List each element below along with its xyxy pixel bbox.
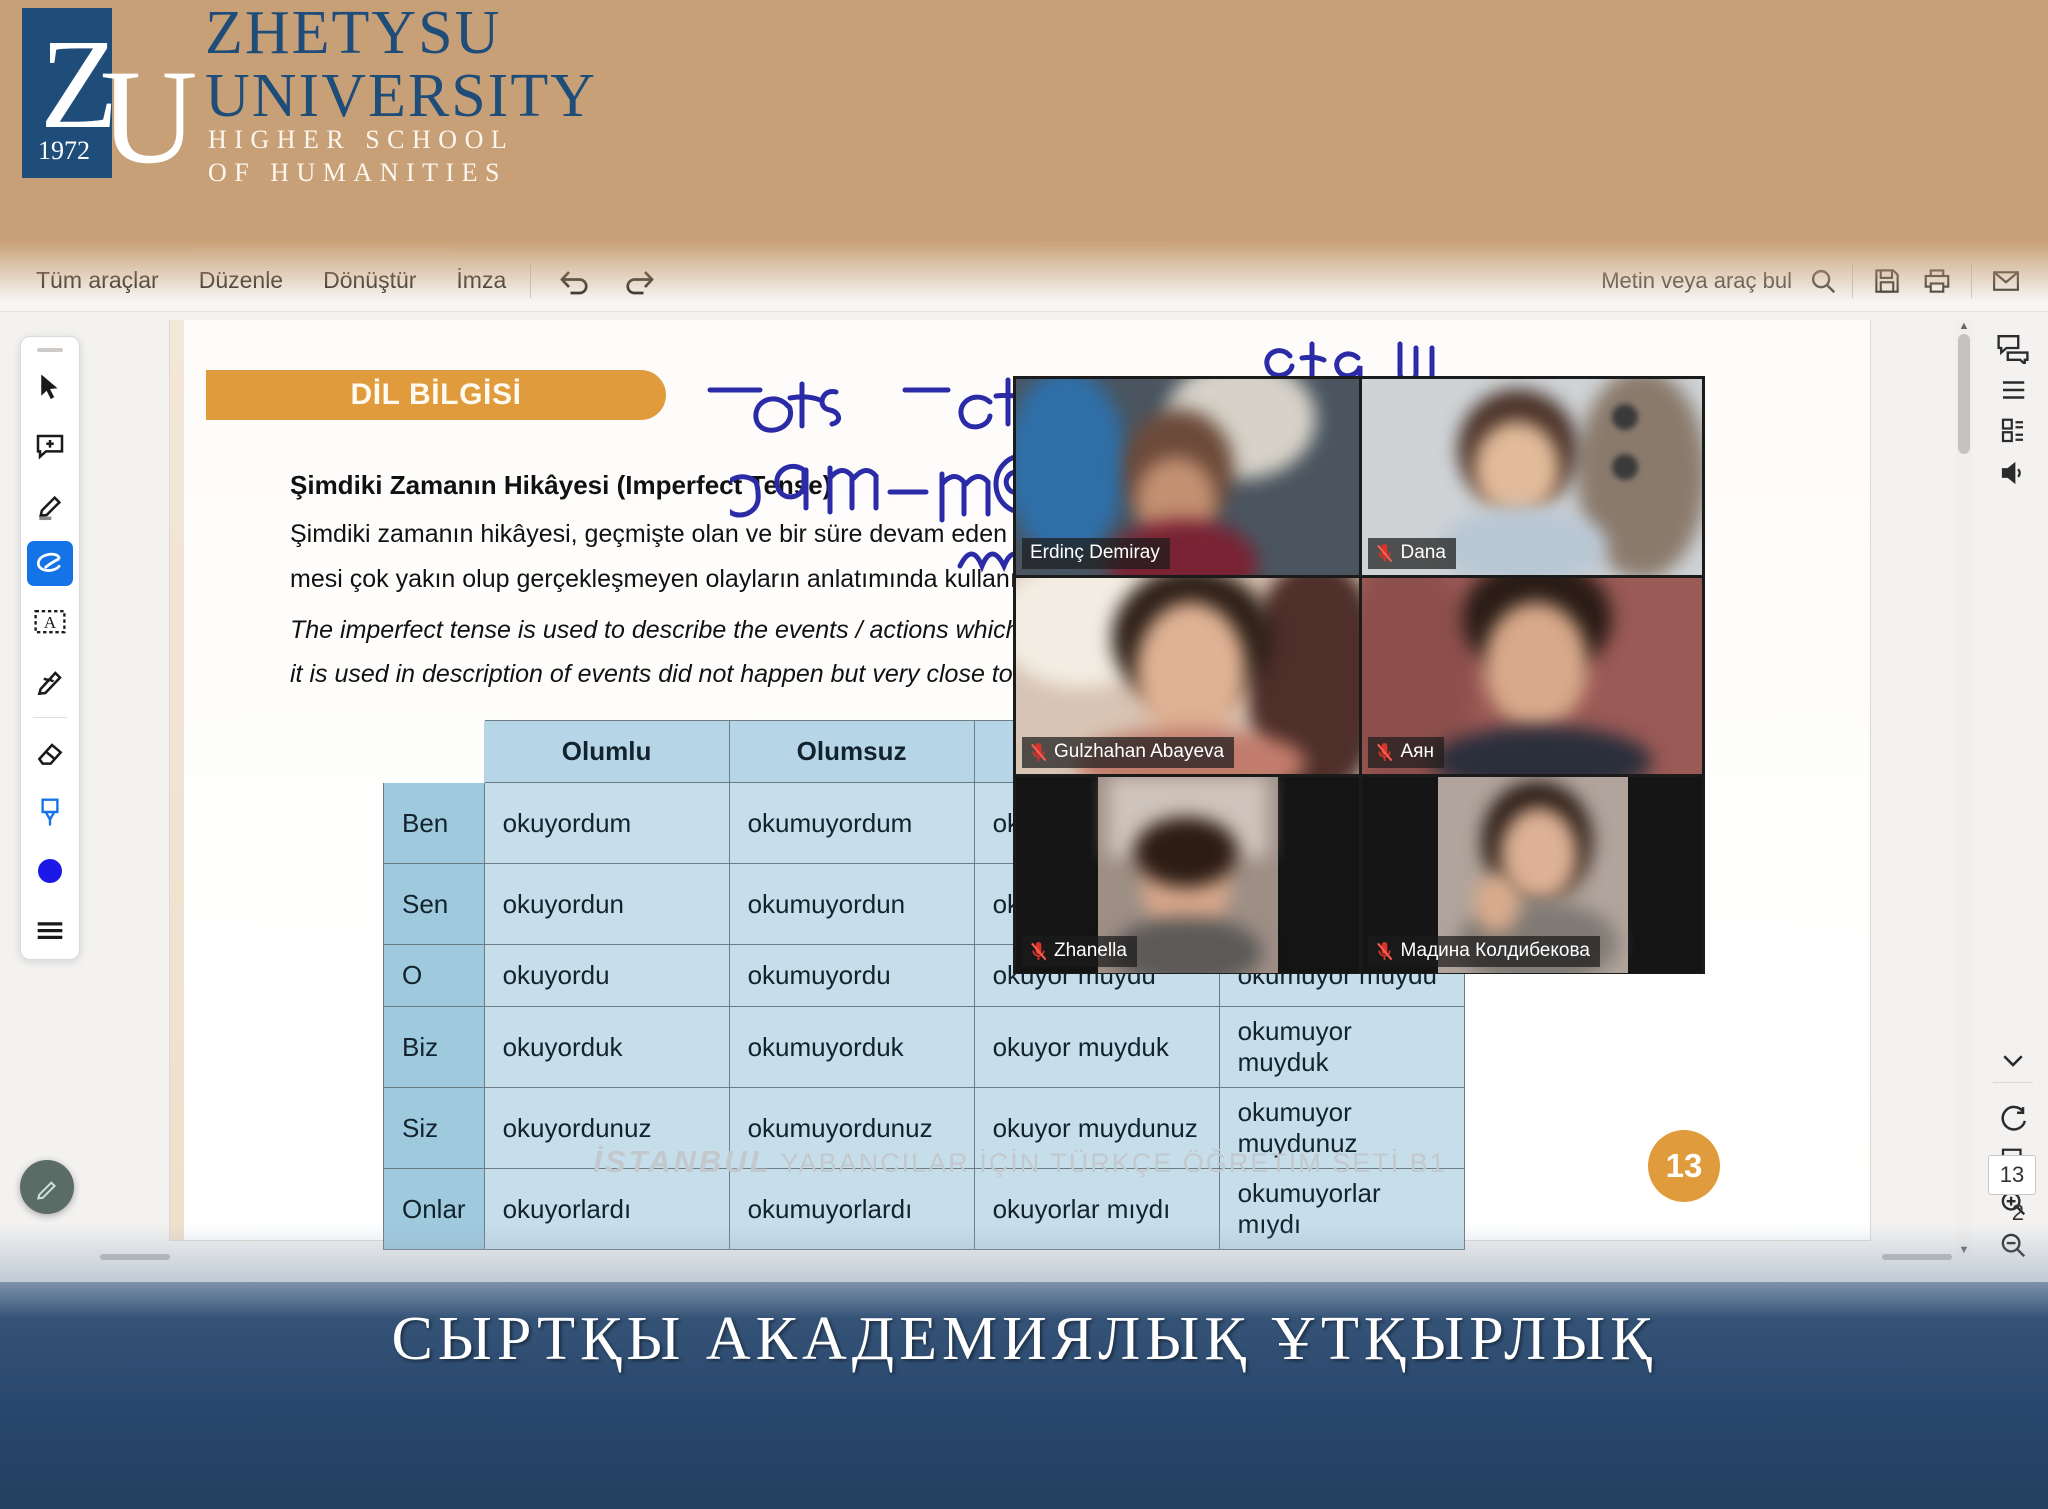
list-lines-icon bbox=[1998, 376, 2028, 404]
quick-draw-fab[interactable] bbox=[20, 1160, 74, 1214]
video-tile-dana[interactable]: Dana bbox=[1362, 379, 1702, 575]
right-tool-rail: 13 2 1:1 bbox=[1978, 320, 2048, 1260]
rotate-page-button[interactable] bbox=[1985, 1104, 2041, 1134]
participant-name: Аян bbox=[1400, 741, 1433, 763]
subtitle-line1: HIGHER SCHOOL bbox=[208, 124, 514, 157]
divider bbox=[33, 717, 67, 718]
cell: okuyordu bbox=[484, 945, 729, 1007]
page-number-input[interactable]: 13 bbox=[1988, 1155, 2036, 1195]
draw-tool[interactable] bbox=[27, 541, 73, 586]
paragraph-tr-2: mesi çok yakın olup gerçekleşmeyen olayl… bbox=[290, 565, 1043, 594]
cell: okumuyor muyduk bbox=[1219, 1007, 1464, 1088]
comments-panel-button[interactable] bbox=[1985, 332, 2041, 364]
microphone-muted-icon bbox=[1376, 544, 1393, 563]
ink-draw-icon bbox=[33, 549, 67, 579]
cell: okumuyordun bbox=[729, 864, 974, 945]
video-grid-row: Gulzhahan Abayeva bbox=[1016, 578, 1702, 774]
page-thumbnails-button[interactable] bbox=[1985, 416, 2041, 446]
participant-name: Мадина Колдибекова bbox=[1400, 940, 1589, 962]
participant-name-chip: Мадина Колдибекова bbox=[1368, 936, 1599, 967]
participant-name: Gulzhahan Abayeva bbox=[1054, 741, 1224, 763]
select-tool[interactable] bbox=[27, 365, 73, 410]
svg-text:A: A bbox=[44, 613, 57, 632]
university-subtitle: HIGHER SCHOOL OF HUMANITIES bbox=[208, 124, 514, 189]
presentation-title: СЫРТҚЫ АКАДЕМИЯЛЫҚ ҰТҚЫРЛЫҚ bbox=[0, 1304, 2048, 1375]
video-tile-ayan[interactable]: Аян bbox=[1362, 578, 1702, 774]
participant-name-chip: Zhanella bbox=[1022, 936, 1137, 967]
cell: okumuyordum bbox=[729, 783, 974, 864]
signature-pen-icon bbox=[34, 665, 66, 697]
university-name: ZHETYSU UNIVERSITY bbox=[205, 2, 597, 128]
participant-name: Dana bbox=[1400, 542, 1445, 564]
next-page-button[interactable] bbox=[1985, 1048, 2041, 1072]
logo-letter-u: U bbox=[100, 50, 198, 185]
text-box-icon: A bbox=[33, 607, 67, 639]
row-pronoun: Sen bbox=[384, 864, 485, 945]
participant-name-chip: Erdinç Demiray bbox=[1022, 538, 1170, 569]
video-tile-erdinc-demiray[interactable]: Erdinç Demiray bbox=[1016, 379, 1359, 575]
microphone-muted-icon bbox=[1376, 942, 1393, 961]
page-footer-brand: İSTANBUL YABANCILAR İÇİN TÜRKÇE ÖĞRETİM … bbox=[170, 1144, 1870, 1180]
table-row: Biz okuyorduk okumuyorduk okuyor muyduk … bbox=[384, 1007, 1465, 1088]
footer-brand-bold: İSTANBUL bbox=[593, 1144, 771, 1179]
eraser-icon bbox=[34, 738, 66, 768]
page-edge-band bbox=[170, 320, 184, 1240]
drag-handle[interactable] bbox=[37, 348, 63, 352]
page-count-label: 2 bbox=[2012, 1200, 2024, 1226]
page-number-badge: 13 bbox=[1648, 1130, 1720, 1202]
cursor-arrow-icon bbox=[35, 372, 65, 402]
textbox-tool[interactable]: A bbox=[27, 600, 73, 645]
microphone-muted-icon bbox=[1376, 743, 1393, 762]
cell: okuyorduk bbox=[484, 1007, 729, 1088]
participant-name-chip: Gulzhahan Abayeva bbox=[1022, 737, 1234, 768]
university-banner: Z U 1972 ZHETYSU UNIVERSITY HIGHER SCHOO… bbox=[0, 0, 2048, 240]
university-name-line1: ZHETYSU bbox=[205, 2, 597, 65]
row-pronoun: Biz bbox=[384, 1007, 485, 1088]
participant-name: Erdinç Demiray bbox=[1030, 542, 1160, 564]
add-comment-icon bbox=[34, 430, 66, 462]
cell: okumuyorduk bbox=[729, 1007, 974, 1088]
row-pronoun: O bbox=[384, 945, 485, 1007]
thickness-lines-icon bbox=[34, 917, 66, 943]
comment-tool[interactable] bbox=[27, 424, 73, 469]
table-corner-cell bbox=[384, 721, 485, 783]
highlight-tool[interactable] bbox=[27, 483, 73, 528]
sticky-note-tool[interactable] bbox=[27, 790, 73, 835]
row-pronoun: Ben bbox=[384, 783, 485, 864]
footer-brand-rest: YABANCILAR İÇİN TÜRKÇE ÖĞRETİM SETİ B1 bbox=[781, 1148, 1447, 1178]
logo-founding-year: 1972 bbox=[38, 136, 90, 166]
document-heading: Şimdiki Zamanın Hikâyesi (Imperfect Tens… bbox=[290, 470, 831, 501]
stroke-thickness-tool[interactable] bbox=[27, 907, 73, 952]
document-vertical-scrollbar[interactable]: ▲ ▼ bbox=[1956, 320, 1972, 1260]
pushpin-icon bbox=[36, 796, 64, 828]
rotate-cw-icon bbox=[1998, 1104, 2028, 1134]
presentation-footer-band: СЫРТҚЫ АКАДЕМИЯЛЫҚ ҰТҚЫРЛЫҚ bbox=[0, 1282, 2048, 1509]
chevron-down-icon bbox=[1998, 1049, 2028, 1071]
color-circle-icon bbox=[38, 859, 62, 883]
subtitle-line2: OF HUMANITIES bbox=[208, 157, 514, 190]
pencil-icon bbox=[34, 1174, 60, 1200]
cell: okuyor muyduk bbox=[974, 1007, 1219, 1088]
cell: okumuyordu bbox=[729, 945, 974, 1007]
comment-bubbles-icon bbox=[1996, 332, 2030, 364]
cell: okuyordum bbox=[484, 783, 729, 864]
outline-panel-button[interactable] bbox=[1985, 376, 2041, 404]
university-logo: Z U 1972 bbox=[22, 8, 162, 178]
scrollbar-thumb[interactable] bbox=[1958, 334, 1970, 454]
section-badge: DİL BİLGİSİ bbox=[206, 370, 666, 420]
video-tile-madina-koldibekova[interactable]: Мадина Колдибекова bbox=[1362, 777, 1702, 973]
read-aloud-button[interactable] bbox=[1985, 458, 2041, 488]
video-tile-zhanella[interactable]: Zhanella bbox=[1016, 777, 1359, 973]
eraser-tool[interactable] bbox=[27, 731, 73, 776]
signature-tool[interactable] bbox=[27, 659, 73, 704]
annotation-tool-palette: A bbox=[20, 336, 80, 960]
band-fade bbox=[0, 1224, 2048, 1282]
video-grid-row: Erdinç Demiray bbox=[1016, 379, 1702, 575]
color-swatch[interactable] bbox=[27, 848, 73, 893]
participant-name-chip: Dana bbox=[1368, 538, 1455, 569]
highlighter-icon bbox=[34, 489, 66, 521]
column-olumlu: Olumlu bbox=[484, 721, 729, 783]
pages-icon bbox=[1998, 416, 2028, 446]
university-name-line2: UNIVERSITY bbox=[205, 65, 597, 128]
microphone-muted-icon bbox=[1030, 942, 1047, 961]
video-grid-row: Zhanella bbox=[1016, 777, 1702, 973]
video-tile-gulzhahan-abayeva[interactable]: Gulzhahan Abayeva bbox=[1016, 578, 1359, 774]
cell: okuyordun bbox=[484, 864, 729, 945]
column-olumsuz: Olumsuz bbox=[729, 721, 974, 783]
participant-name-chip: Аян bbox=[1368, 737, 1443, 768]
microphone-muted-icon bbox=[1030, 743, 1047, 762]
read-aloud-icon bbox=[1998, 458, 2028, 488]
screenshot-root: Menü B1 DERS KITABI.pdf ✕ B1 Çalışma KIT… bbox=[0, 0, 2048, 1509]
video-conference-grid[interactable]: Erdinç Demiray bbox=[1013, 376, 1705, 974]
participant-name: Zhanella bbox=[1054, 940, 1127, 962]
